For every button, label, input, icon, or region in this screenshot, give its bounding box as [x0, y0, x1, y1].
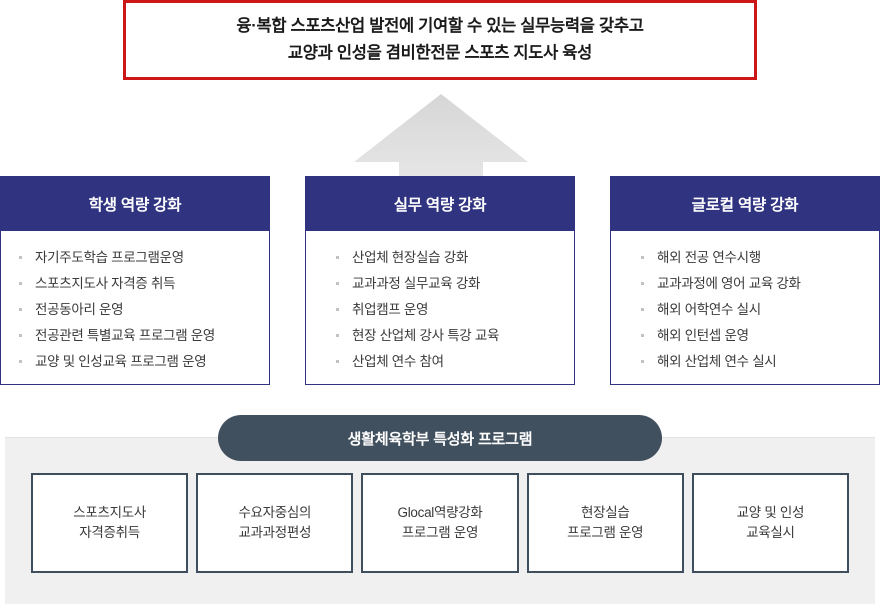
program-box-line-2: 프로그램 운영 — [402, 523, 478, 543]
list-item: 스포츠지도사 자격증 취득 — [17, 277, 269, 291]
bullet-square-icon — [641, 360, 644, 363]
list-item: 해외 어학연수 실시 — [639, 303, 879, 317]
program-box-line-2: 자격증취득 — [79, 523, 140, 543]
list-item: 해외 인턴셉 운영 — [639, 329, 879, 343]
bullet-square-icon — [336, 334, 339, 337]
pillar-body: 자기주도학습 프로그램운영 스포츠지도사 자격증 취득 전공동아리 운영 전공관… — [1, 231, 269, 384]
bullet-square-icon — [336, 282, 339, 285]
bullet-square-icon — [19, 282, 22, 285]
list-item: 취업캠프 운영 — [334, 303, 574, 317]
list-item: 전공관련 특별교육 프로그램 운영 — [17, 329, 269, 343]
goal-banner-line-1: 융·복합 스포츠산업 발전에 기여할 수 있는 실무능력을 갖추고 — [236, 13, 643, 40]
program-pill-heading: 생활체육학부 특성화 프로그램 — [218, 415, 662, 461]
goal-banner: 융·복합 스포츠산업 발전에 기여할 수 있는 실무능력을 갖추고 교양과 인성… — [123, 0, 757, 80]
list-item-label: 전공동아리 운영 — [35, 302, 123, 317]
list-item-label: 해외 산업체 연수 실시 — [657, 354, 776, 369]
bullet-square-icon — [641, 256, 644, 259]
list-item-label: 해외 전공 연수시행 — [657, 250, 761, 265]
program-box: 현장실습 프로그램 운영 — [527, 473, 684, 573]
goal-banner-line-2: 교양과 인성을 겸비한전문 스포츠 지도사 육성 — [288, 40, 592, 67]
pillar-body: 산업체 현장실습 강화 교과과정 실무교육 강화 취업캠프 운영 현장 산업체 … — [306, 231, 574, 384]
pillar-title: 학생 역량 강화 — [1, 177, 269, 231]
program-pill-label: 생활체육학부 특성화 프로그램 — [348, 428, 533, 449]
specialization-program-diagram: 융·복합 스포츠산업 발전에 기여할 수 있는 실무능력을 갖추고 교양과 인성… — [0, 0, 880, 604]
pillar-title: 글로컬 역량 강화 — [611, 177, 879, 231]
program-box-line-2: 프로그램 운영 — [567, 523, 643, 543]
program-box: Glocal역량강화 프로그램 운영 — [361, 473, 518, 573]
program-box-line-1: 현장실습 — [581, 503, 629, 523]
list-item: 교과과정에 영어 교육 강화 — [639, 277, 879, 291]
program-box-line-1: 수요자중심의 — [238, 503, 311, 523]
list-item-label: 전공관련 특별교육 프로그램 운영 — [35, 328, 215, 343]
program-box: 교양 및 인성 교육실시 — [692, 473, 849, 573]
program-box-line-1: Glocal역량강화 — [398, 503, 483, 523]
bullet-square-icon — [19, 308, 22, 311]
list-item-label: 교과과정 실무교육 강화 — [352, 276, 480, 291]
list-item: 교양 및 인성교육 프로그램 운영 — [17, 355, 269, 369]
bullet-square-icon — [19, 256, 22, 259]
bullet-square-icon — [336, 256, 339, 259]
list-item-label: 산업체 현장실습 강화 — [352, 250, 468, 265]
program-box: 스포츠지도사 자격증취득 — [31, 473, 188, 573]
upward-arrow-icon — [352, 92, 530, 178]
list-item: 자기주도학습 프로그램운영 — [17, 251, 269, 265]
list-item-label: 스포츠지도사 자격증 취득 — [35, 276, 175, 291]
program-box-row: 스포츠지도사 자격증취득 수요자중심의 교과과정편성 Glocal역량강화 프로… — [31, 473, 849, 573]
pillar-title: 실무 역량 강화 — [306, 177, 574, 231]
list-item-label: 교과과정에 영어 교육 강화 — [657, 276, 801, 291]
pillar-student-competency: 학생 역량 강화 자기주도학습 프로그램운영 스포츠지도사 자격증 취득 전공동… — [0, 176, 270, 385]
program-box: 수요자중심의 교과과정편성 — [196, 473, 353, 573]
list-item-label: 산업체 연수 참여 — [352, 354, 444, 369]
list-item: 산업체 현장실습 강화 — [334, 251, 574, 265]
list-item: 해외 산업체 연수 실시 — [639, 355, 879, 369]
bullet-square-icon — [336, 308, 339, 311]
program-box-line-1: 교양 및 인성 — [737, 503, 805, 523]
list-item: 전공동아리 운영 — [17, 303, 269, 317]
pillar-columns: 학생 역량 강화 자기주도학습 프로그램운영 스포츠지도사 자격증 취득 전공동… — [0, 176, 880, 385]
list-item: 교과과정 실무교육 강화 — [334, 277, 574, 291]
bullet-square-icon — [641, 282, 644, 285]
list-item-label: 교양 및 인성교육 프로그램 운영 — [35, 354, 206, 369]
list-item: 현장 산업체 강사 특강 교육 — [334, 329, 574, 343]
list-item-label: 취업캠프 운영 — [352, 302, 428, 317]
pillar-glocal-competency: 글로컬 역량 강화 해외 전공 연수시행 교과과정에 영어 교육 강화 해외 어… — [610, 176, 880, 385]
bullet-square-icon — [19, 334, 22, 337]
bullet-square-icon — [336, 360, 339, 363]
pillar-body: 해외 전공 연수시행 교과과정에 영어 교육 강화 해외 어학연수 실시 해외 … — [611, 231, 879, 384]
list-item-label: 해외 어학연수 실시 — [657, 302, 761, 317]
list-item-label: 해외 인턴셉 운영 — [657, 328, 749, 343]
pillar-item-list: 자기주도학습 프로그램운영 스포츠지도사 자격증 취득 전공동아리 운영 전공관… — [1, 251, 269, 381]
list-item-label: 자기주도학습 프로그램운영 — [35, 250, 184, 265]
list-item-label: 현장 산업체 강사 특강 교육 — [352, 328, 499, 343]
pillar-item-list: 산업체 현장실습 강화 교과과정 실무교육 강화 취업캠프 운영 현장 산업체 … — [306, 251, 574, 381]
list-item: 산업체 연수 참여 — [334, 355, 574, 369]
program-box-line-2: 교과과정편성 — [238, 523, 311, 543]
program-box-line-2: 교육실시 — [746, 523, 794, 543]
list-item: 해외 전공 연수시행 — [639, 251, 879, 265]
pillar-practical-competency: 실무 역량 강화 산업체 현장실습 강화 교과과정 실무교육 강화 취업캠프 운… — [305, 176, 575, 385]
bullet-square-icon — [641, 334, 644, 337]
program-box-line-1: 스포츠지도사 — [73, 503, 146, 523]
pillar-item-list: 해외 전공 연수시행 교과과정에 영어 교육 강화 해외 어학연수 실시 해외 … — [611, 251, 879, 381]
bullet-square-icon — [19, 360, 22, 363]
bullet-square-icon — [641, 308, 644, 311]
